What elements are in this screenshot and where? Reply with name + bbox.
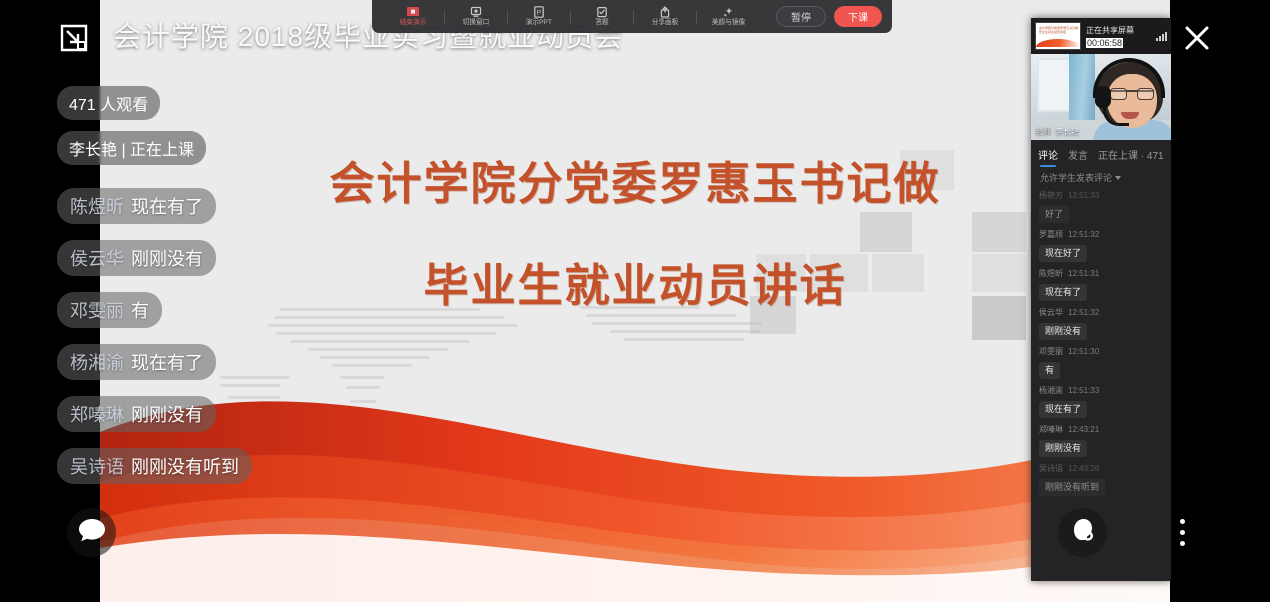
toolbar-share-whiteboard-label: 分享画板	[652, 19, 679, 27]
chat-user: 邓雯丽	[1039, 347, 1063, 356]
close-icon[interactable]	[1181, 22, 1213, 54]
chat-text: 刚刚没有	[1039, 440, 1087, 457]
toolbar-stop-share-label: 结束演示	[400, 19, 427, 27]
toolbar-quiz-label: 答题	[595, 19, 608, 27]
exit-fullscreen-icon[interactable]	[57, 22, 91, 54]
comment-permission-dropdown[interactable]: 允许学生发表评论	[1031, 167, 1171, 190]
barrage-text: 刚刚没有	[131, 405, 203, 425]
viewer-count-badge: 471 人观看	[57, 86, 160, 120]
chat-time: 12:51:33	[1068, 191, 1099, 200]
camera-role-label: 老师	[1035, 126, 1051, 137]
ppt-icon: P	[533, 6, 545, 18]
chat-time: 12:51:30	[1068, 347, 1099, 356]
slide-title-line-2: 毕业生就业动员讲话	[100, 257, 1170, 315]
tab-comments[interactable]: 评论	[1038, 147, 1058, 167]
barrage-bubble: 郑嗪琳刚刚没有	[57, 396, 216, 432]
barrage-user: 杨湘渝	[70, 353, 124, 373]
camera-name-overlay: 老师 李长艳	[1035, 126, 1079, 137]
toolbar-share-whiteboard-button[interactable]: 分享画板	[634, 0, 696, 33]
barrage-bubble: 侯云华刚刚没有	[57, 240, 216, 276]
chat-user: 郑嗪琳	[1039, 425, 1063, 434]
quiz-icon	[596, 6, 608, 18]
chat-message: 杨湘渝12:51:33 现在有了	[1039, 385, 1163, 418]
chat-message: 罗嘉颀12:51:32 现在好了	[1039, 229, 1163, 262]
chat-time: 12:51:33	[1068, 386, 1099, 395]
chat-text: 有	[1039, 362, 1060, 379]
barrage-bubble: 邓雯丽有	[57, 292, 162, 328]
chat-time: 12:51:32	[1068, 230, 1099, 239]
toolbar-stop-share-button[interactable]: 结束演示	[382, 0, 444, 33]
pause-button[interactable]: 暂停	[776, 6, 826, 27]
slide-decor-ribbon	[100, 312, 1170, 602]
shared-screen-slide: 会计学院分党委罗惠玉书记做 毕业生就业动员讲话	[100, 0, 1170, 602]
barrage-user: 吴诗语	[70, 457, 124, 477]
barrage-user: 邓雯丽	[70, 301, 124, 321]
barrage-text: 有	[131, 301, 149, 321]
stop-share-icon	[407, 6, 419, 18]
chat-user: 罗嘉颀	[1039, 230, 1063, 239]
share-thumbnail-ribbon	[1036, 39, 1080, 47]
chat-user: 陈煜昕	[1039, 269, 1063, 278]
switch-window-icon	[470, 6, 482, 18]
chat-text: 现在有了	[1039, 401, 1087, 418]
chat-message: 吴诗语12:43:26 刚刚没有听到	[1039, 463, 1163, 496]
share-thumbnail-title: 会计学院分党委罗惠玉书记做毕业生就业动员讲话	[1039, 26, 1080, 34]
chat-text: 现在好了	[1039, 245, 1087, 262]
teacher-avatar	[1089, 60, 1171, 140]
toolbar-beauty-mirror-label: 美颜与镜像	[711, 19, 744, 27]
end-class-button[interactable]: 下课	[834, 6, 882, 27]
chevron-down-icon	[1115, 176, 1121, 180]
slide-title: 会计学院分党委罗惠玉书记做 毕业生就业动员讲话	[100, 155, 1170, 315]
chat-time: 12:51:31	[1068, 269, 1099, 278]
chat-message: 陈煜昕12:51:31 现在有了	[1039, 268, 1163, 301]
tab-speak[interactable]: 发言	[1068, 147, 1088, 167]
whiteboard-share-icon	[659, 6, 671, 18]
chat-bubble-icon	[78, 517, 106, 548]
barrage-text: 刚刚没有	[131, 249, 203, 269]
right-side-panel: 会计学院分党委罗惠玉书记做毕业生就业动员讲话 正在共享屏幕 00:06:58	[1031, 18, 1171, 581]
chat-panel: 评论 发言 正在上课 · 471 允许学生发表评论 杨艳方12:51:33 好了…	[1031, 140, 1171, 581]
barrage-text: 刚刚没有听到	[131, 457, 239, 477]
presenter-toolbar: 结束演示 切换窗口 P 演示PPT 答题	[372, 0, 892, 33]
barrage-user: 陈煜昕	[70, 197, 124, 217]
chat-user: 侯云华	[1039, 308, 1063, 317]
chat-text: 刚刚没有	[1039, 323, 1087, 340]
camera-header: 会计学院分党委罗惠玉书记做毕业生就业动员讲话 正在共享屏幕 00:06:58	[1031, 18, 1171, 54]
more-vertical-icon	[1180, 519, 1185, 524]
camera-header-text: 正在共享屏幕 00:06:58	[1086, 25, 1153, 48]
slide-title-line-1: 会计学院分党委罗惠玉书记做	[100, 155, 1170, 213]
chat-message: 邓雯丽12:51:30 有	[1039, 346, 1163, 379]
chat-text: 好了	[1039, 206, 1069, 223]
session-timer: 00:06:58	[1086, 38, 1153, 48]
chat-time: 12:51:32	[1068, 308, 1099, 317]
raise-hand-speak-icon	[1069, 516, 1097, 549]
barrage-bubble: 陈煜昕现在有了	[57, 188, 216, 224]
live-class-stage: 会计学院分党委罗惠玉书记做 毕业生就业动员讲话	[0, 0, 1270, 602]
chat-time: 12:43:21	[1068, 425, 1099, 434]
chat-text: 现在有了	[1039, 284, 1087, 301]
teacher-status-badge: 李长艳 | 正在上课	[57, 131, 206, 165]
beauty-mirror-icon	[722, 6, 734, 18]
share-state-label: 正在共享屏幕	[1086, 25, 1153, 36]
open-chat-button[interactable]	[67, 508, 116, 557]
toolbar-present-ppt-label: 演示PPT	[526, 19, 552, 27]
barrage-text: 现在有了	[131, 353, 203, 373]
signal-strength-icon	[1156, 32, 1167, 41]
more-options-button[interactable]	[1170, 508, 1194, 557]
chat-message: 郑嗪琳12:43:21 刚刚没有	[1039, 424, 1163, 457]
session-timer-value: 00:06:58	[1086, 38, 1123, 48]
teacher-camera-preview[interactable]: 会计学院分党委罗惠玉书记做毕业生就业动员讲话 正在共享屏幕 00:06:58	[1031, 18, 1171, 140]
share-thumbnail: 会计学院分党委罗惠玉书记做毕业生就业动员讲话	[1035, 22, 1081, 50]
chat-user: 吴诗语	[1039, 464, 1063, 473]
barrage-user: 侯云华	[70, 249, 124, 269]
chat-message: 侯云华12:51:32 刚刚没有	[1039, 307, 1163, 340]
toolbar-quiz-button[interactable]: 答题	[571, 0, 633, 33]
barrage-bubble: 吴诗语刚刚没有听到	[57, 448, 252, 484]
barrage-user: 郑嗪琳	[70, 405, 124, 425]
toolbar-present-ppt-button[interactable]: P 演示PPT	[508, 0, 570, 33]
raise-hand-speak-button[interactable]	[1058, 508, 1107, 557]
chat-message: 杨艳方12:51:33 好了	[1039, 190, 1163, 223]
barrage-bubble: 杨湘渝现在有了	[57, 344, 216, 380]
barrage-overlay: 陈煜昕现在有了 侯云华刚刚没有 邓雯丽有 杨湘渝现在有了 郑嗪琳刚刚没有 吴诗语…	[57, 188, 252, 500]
svg-text:P: P	[537, 9, 542, 16]
toolbar-switch-window-button[interactable]: 切换窗口	[445, 0, 507, 33]
chat-user: 杨艳方	[1039, 191, 1063, 200]
chat-user: 杨湘渝	[1039, 386, 1063, 395]
chat-time: 12:43:26	[1068, 464, 1099, 473]
camera-teacher-name: 李长艳	[1055, 126, 1079, 137]
comment-permission-label: 允许学生发表评论	[1040, 171, 1112, 184]
tab-in-class-count[interactable]: 正在上课 · 471	[1098, 147, 1164, 167]
chat-tabs: 评论 发言 正在上课 · 471	[1031, 140, 1171, 167]
barrage-text: 现在有了	[131, 197, 203, 217]
toolbar-beauty-mirror-button[interactable]: 美颜与镜像	[697, 0, 759, 33]
chat-text: 刚刚没有听到	[1039, 479, 1105, 496]
toolbar-switch-window-label: 切换窗口	[463, 19, 490, 27]
